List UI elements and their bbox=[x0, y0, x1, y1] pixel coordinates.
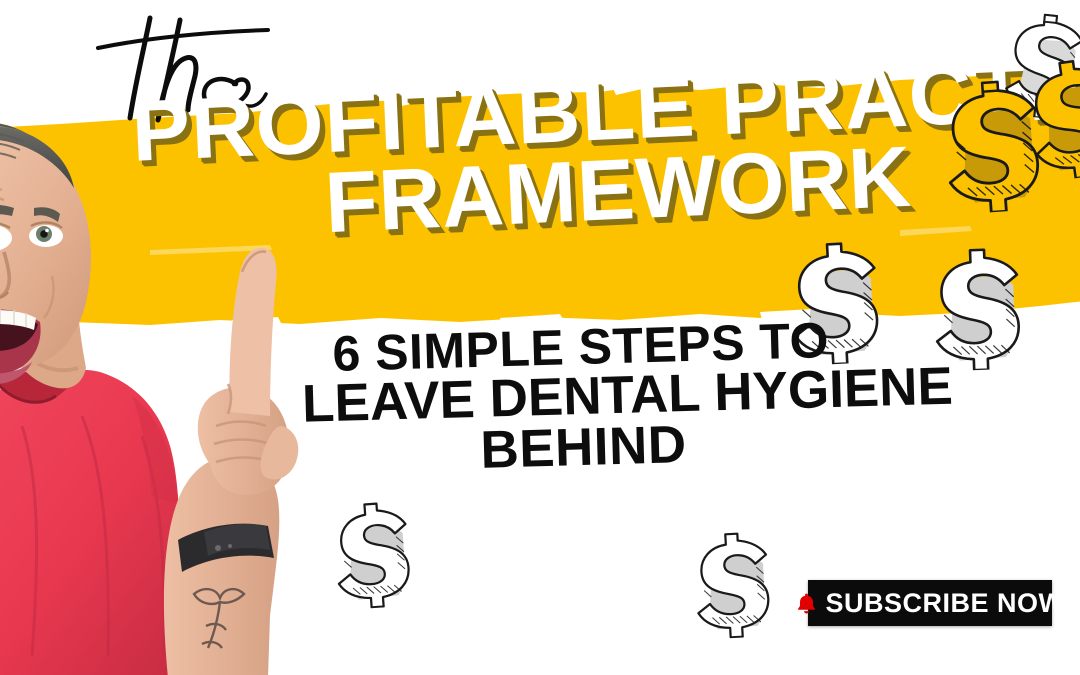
dollar-sign-icon bbox=[926, 242, 1030, 371]
subscribe-now-button[interactable]: SUBSCRIBE NOW bbox=[808, 580, 1052, 626]
presenter-photo bbox=[0, 96, 312, 675]
subheadline: 6 SIMPLE STEPS TO LEAVE DENTAL HYGIENE B… bbox=[300, 314, 864, 482]
dollar-sign-icon bbox=[326, 495, 419, 611]
video-thumbnail: PROFITABLE PRACTICE FRAMEWORK bbox=[0, 0, 1080, 675]
dollar-sign-icon bbox=[687, 526, 779, 640]
subscribe-label: SUBSCRIBE NOW bbox=[826, 588, 1065, 619]
bell-icon bbox=[796, 592, 817, 615]
